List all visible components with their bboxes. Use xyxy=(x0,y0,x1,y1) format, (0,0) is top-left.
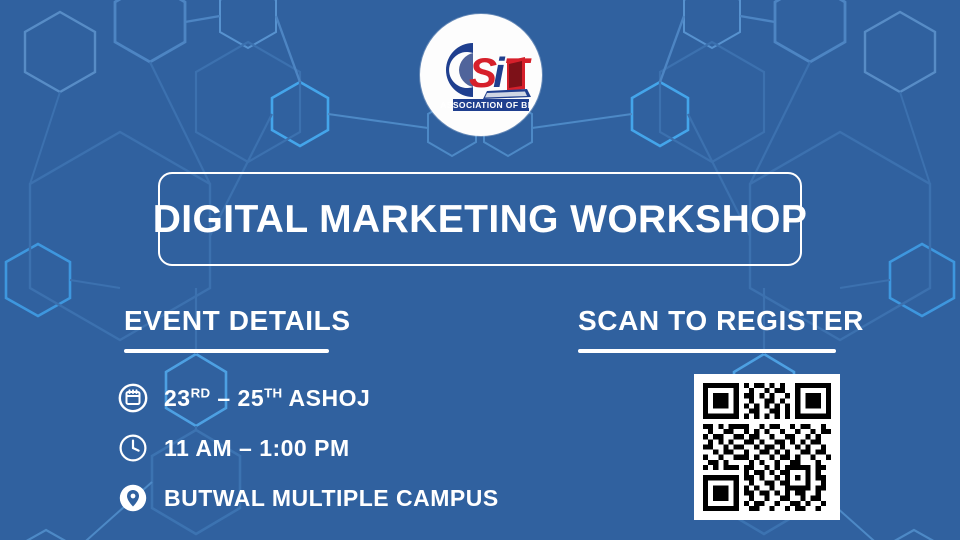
event-details-list: 23RD – 25TH ASHOJ 11 AM – 1:00 PM BUTWAL… xyxy=(118,376,538,526)
event-details-heading: EVENT DETAILS xyxy=(124,307,351,335)
event-time-text: 11 AM – 1:00 PM xyxy=(164,437,350,460)
event-date-row: 23RD – 25TH ASHOJ xyxy=(118,376,538,420)
calendar-icon xyxy=(118,383,148,413)
logo-tagline: ASSOCIATION OF BMC xyxy=(440,100,533,110)
csit-association-logo: S i T ASSOCIATION OF BMC xyxy=(420,14,542,136)
qr-code-card[interactable] xyxy=(694,374,840,520)
registration-qr-code[interactable] xyxy=(703,383,831,511)
event-date-text: 23RD – 25TH ASHOJ xyxy=(164,387,370,410)
event-poster: S i T ASSOCIATION OF BMC DIGITAL MARKETI… xyxy=(0,0,960,540)
date-ordinal-first: RD xyxy=(191,385,211,400)
page-title: DIGITAL MARKETING WORKSHOP xyxy=(153,200,808,239)
event-details-divider xyxy=(124,349,329,353)
event-time-row: 11 AM – 1:00 PM xyxy=(118,426,538,470)
workshop-title-box: DIGITAL MARKETING WORKSHOP xyxy=(158,172,802,266)
location-pin-icon xyxy=(118,483,148,513)
date-ordinal-second: TH xyxy=(264,385,282,400)
clock-icon xyxy=(118,433,148,463)
event-location-text: BUTWAL MULTIPLE CAMPUS xyxy=(164,487,499,510)
event-location-row: BUTWAL MULTIPLE CAMPUS xyxy=(118,476,538,520)
scan-to-register-divider xyxy=(578,349,836,353)
scan-to-register-heading: SCAN TO REGISTER xyxy=(578,307,864,335)
logo-mark: S i T ASSOCIATION OF BMC xyxy=(429,33,533,117)
